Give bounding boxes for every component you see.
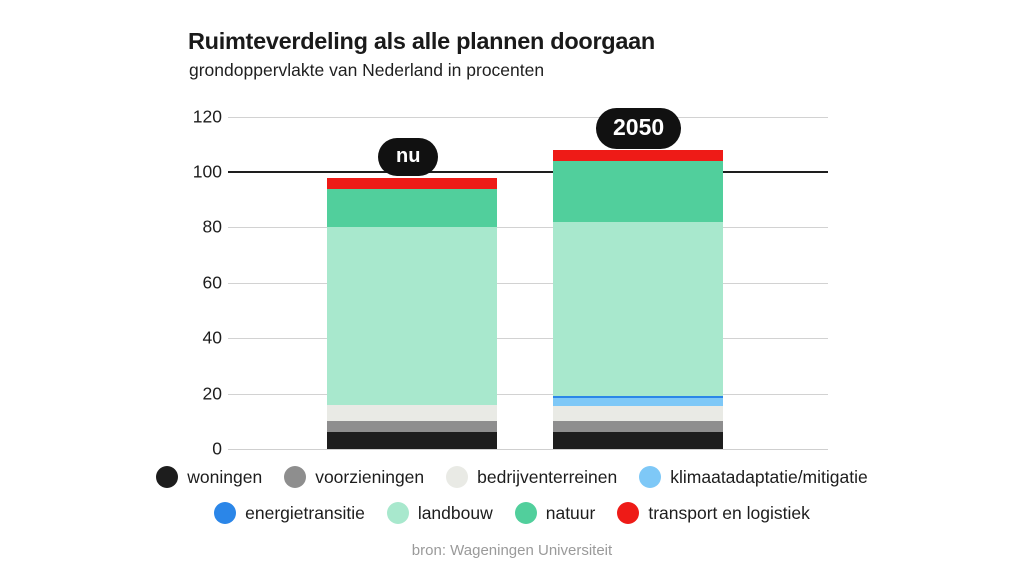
badge-nu: nu	[378, 138, 438, 176]
legend-label: woningen	[187, 467, 262, 488]
y-axis-tick-0: 0	[176, 439, 222, 460]
y-axis-tick-80: 80	[176, 217, 222, 238]
bar-2050[interactable]	[553, 115, 723, 455]
y-axis-tick-20: 20	[176, 383, 222, 404]
bar-segment-2050-voorzieningen[interactable]	[553, 421, 723, 432]
y-axis-tick-100: 100	[176, 162, 222, 183]
gridline-0	[228, 449, 828, 450]
gridline-100	[228, 171, 828, 173]
chart-container: Ruimteverdeling als alle plannen doorgaa…	[0, 0, 1024, 576]
page-title: Ruimteverdeling als alle plannen doorgaa…	[188, 28, 655, 55]
legend-label: natuur	[546, 503, 596, 524]
legend-item-klimaatadaptatie-mitigatie[interactable]: klimaatadaptatie/mitigatie	[639, 466, 867, 488]
bar-segment-nu-landbouw[interactable]	[327, 227, 497, 404]
badge-2050: 2050	[596, 108, 681, 149]
bar-segment-nu-natuur[interactable]	[327, 189, 497, 228]
legend-label: energietransitie	[245, 503, 365, 524]
legend-label: landbouw	[418, 503, 493, 524]
bar-segment-2050-transport-en-logistiek[interactable]	[553, 150, 723, 161]
legend-item-landbouw[interactable]: landbouw	[387, 502, 493, 524]
bar-segment-2050-natuur[interactable]	[553, 161, 723, 222]
legend-dot-voorzieningen	[284, 466, 306, 488]
legend-item-natuur[interactable]: natuur	[515, 502, 596, 524]
legend-item-transport-en-logistiek[interactable]: transport en logistiek	[617, 502, 809, 524]
y-axis-tick-40: 40	[176, 328, 222, 349]
legend-row-2: energietransitielandbouwnatuurtransport …	[0, 502, 1024, 524]
bar-segment-2050-bedrijventerreinen[interactable]	[553, 406, 723, 421]
legend-item-voorzieningen[interactable]: voorzieningen	[284, 466, 424, 488]
legend-label: transport en logistiek	[648, 503, 809, 524]
legend-label: bedrijventerreinen	[477, 467, 617, 488]
legend-item-woningen[interactable]: woningen	[156, 466, 262, 488]
legend-dot-klimaatadaptatie	[639, 466, 661, 488]
source-note: bron: Wageningen Universiteit	[0, 542, 1024, 559]
gridline-60	[228, 283, 828, 284]
plot-area	[228, 115, 828, 455]
gridline-40	[228, 338, 828, 339]
bar-segment-2050-woningen[interactable]	[553, 432, 723, 449]
legend-label: klimaatadaptatie/mitigatie	[670, 467, 867, 488]
gridline-80	[228, 227, 828, 228]
bar-segment-nu-woningen[interactable]	[327, 432, 497, 449]
gridline-120	[228, 117, 828, 118]
y-axis-tick-120: 120	[176, 106, 222, 127]
bar-segment-nu-bedrijventerreinen[interactable]	[327, 405, 497, 422]
legend-dot-woningen	[156, 466, 178, 488]
legend-label: voorzieningen	[315, 467, 424, 488]
page-subtitle: grondoppervlakte van Nederland in procen…	[189, 60, 544, 81]
legend-dot-bedrijventerreinen	[446, 466, 468, 488]
legend-item-energietransitie[interactable]: energietransitie	[214, 502, 365, 524]
legend-dot-landbouw	[387, 502, 409, 524]
gridline-20	[228, 394, 828, 395]
legend-dot-transport	[617, 502, 639, 524]
bar-segment-2050-landbouw[interactable]	[553, 222, 723, 397]
y-axis-tick-60: 60	[176, 272, 222, 293]
legend-dot-energietransitie	[214, 502, 236, 524]
legend-dot-natuur	[515, 502, 537, 524]
bar-segment-2050-energietransitie[interactable]	[553, 396, 723, 397]
bar-segment-2050-klimaatadaptatie-mitigatie[interactable]	[553, 398, 723, 406]
bar-segment-nu-voorzieningen[interactable]	[327, 421, 497, 432]
legend-row-1: woningenvoorzieningenbedrijventerreinenk…	[0, 466, 1024, 488]
y-axis-labels: 020406080100120	[170, 115, 222, 455]
bar-segment-nu-transport-en-logistiek[interactable]	[327, 178, 497, 189]
legend-item-bedrijventerreinen[interactable]: bedrijventerreinen	[446, 466, 617, 488]
